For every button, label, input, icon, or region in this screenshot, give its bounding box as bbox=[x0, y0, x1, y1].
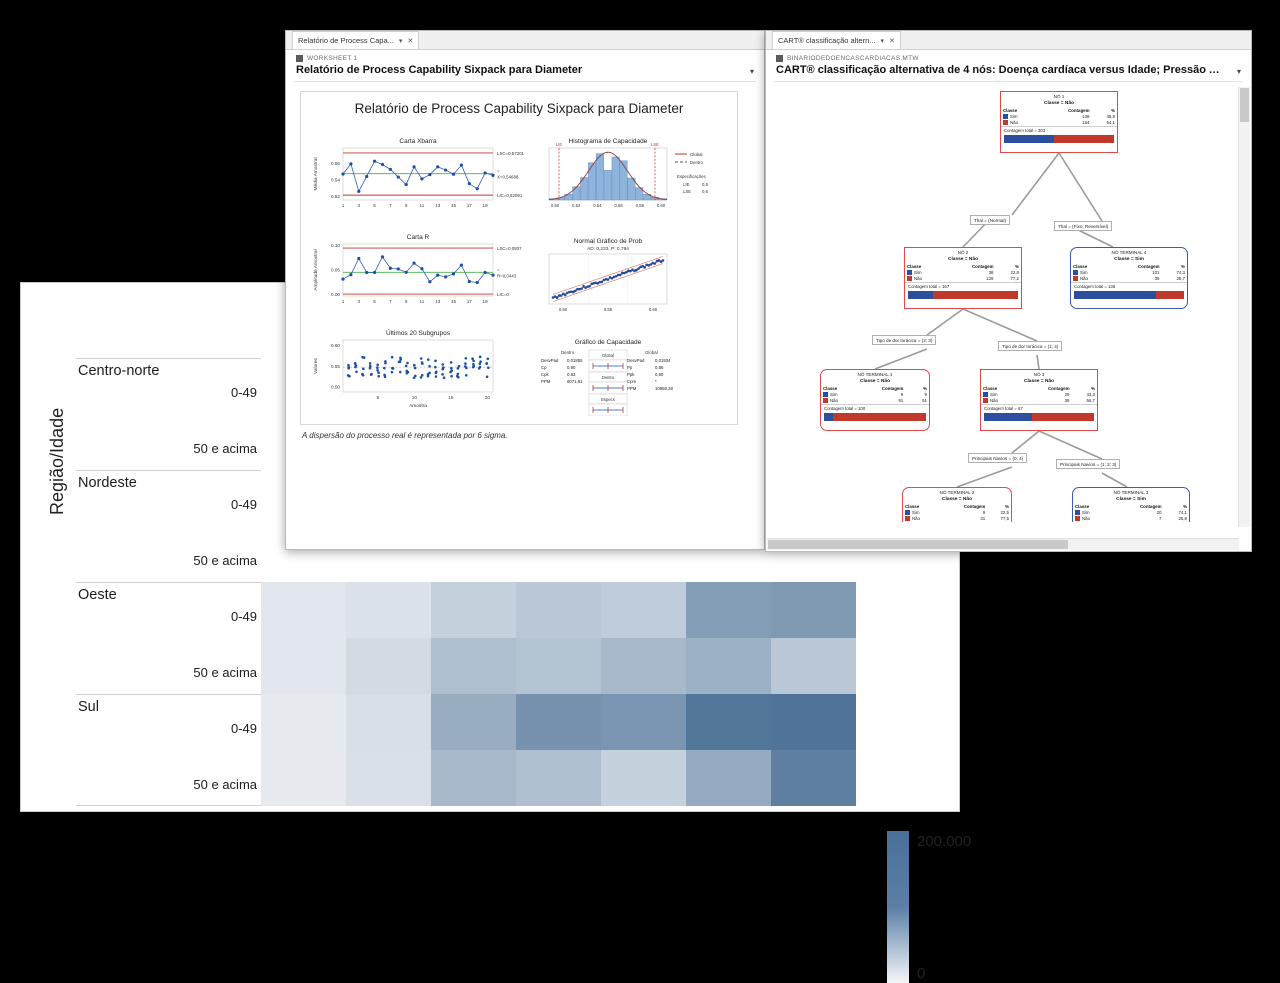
data-point bbox=[362, 368, 365, 371]
capability-menu-caret-icon[interactable]: ▾ bbox=[750, 67, 754, 76]
cart-split-label: Thal = (Fixo; Reversível) bbox=[1054, 221, 1112, 231]
heatmap-cell[interactable] bbox=[771, 582, 856, 638]
spec-value: 0,5 bbox=[702, 182, 709, 187]
ucl-label: LSC=0,0937 bbox=[497, 246, 522, 251]
x-tick-label: 19 bbox=[483, 299, 489, 304]
data-point bbox=[347, 364, 350, 367]
y-tick-label: 0.52 bbox=[331, 194, 340, 199]
data-point bbox=[354, 362, 357, 365]
worksheet-icon bbox=[776, 55, 783, 62]
scrollbar-thumb[interactable] bbox=[1240, 88, 1249, 122]
data-point bbox=[465, 357, 468, 360]
x-tick-label: 11 bbox=[420, 299, 425, 304]
data-point bbox=[377, 375, 380, 378]
x-tick-label: 20 bbox=[485, 395, 491, 400]
heatmap-cell[interactable] bbox=[431, 750, 516, 806]
cart-node-name: NÓ 3 bbox=[981, 370, 1097, 378]
data-point bbox=[441, 363, 444, 366]
capability-card-title: Relatório de Process Capability Sixpack … bbox=[301, 92, 737, 116]
heatmap-cell[interactable] bbox=[261, 694, 346, 750]
data-point bbox=[619, 274, 622, 277]
cart-node[interactable]: NÓ 1Classe = NãoClasseContagem%Sim13945,… bbox=[1000, 91, 1118, 153]
data-point bbox=[397, 175, 400, 178]
legend-label: Dentro bbox=[690, 160, 704, 165]
data-point bbox=[479, 356, 482, 359]
capability-tab-bar[interactable]: Relatório de Process Capa... ▾ ✕ bbox=[286, 31, 764, 50]
header-divider bbox=[294, 81, 756, 82]
heatmap-cell[interactable] bbox=[686, 750, 771, 806]
chart-title: Gráfico de Capacidade bbox=[575, 339, 642, 346]
x-tick-label: 9 bbox=[405, 203, 408, 208]
cart-node-total: Contagem total = 67 bbox=[981, 404, 1097, 412]
data-point bbox=[476, 281, 479, 284]
x-tick-label: 1 bbox=[342, 203, 345, 208]
cart-page-title: CART® classificação alternativa de 4 nós… bbox=[766, 63, 1251, 81]
colorbar-min-label: 0 bbox=[917, 965, 925, 982]
heatmap-group-label: Sul bbox=[78, 699, 99, 715]
heatmap-cell[interactable] bbox=[431, 694, 516, 750]
heatmap-row-labels: Centro-norte0-4950 e acimaNordeste0-4950… bbox=[76, 358, 261, 806]
histogram-bar bbox=[628, 178, 635, 200]
heatmap-cell[interactable] bbox=[771, 694, 856, 750]
cart-node-table: ClasseContagem%Sim922,5Não3177,5 bbox=[903, 504, 1011, 522]
data-point bbox=[421, 374, 424, 377]
spec-name: LIE bbox=[683, 182, 690, 187]
heatmap-row-group: Sul0-4950 e acima bbox=[76, 694, 261, 806]
cart-node-table: ClasseContagem%Sim2943,3Não3856,7 bbox=[981, 386, 1097, 404]
heatmap-colorbar bbox=[887, 831, 909, 983]
cart-node[interactable]: NÓ TERMINAL 1Classe = NãoClasseContagem%… bbox=[820, 369, 930, 431]
capability-stat-value: 0,90 bbox=[567, 365, 576, 370]
data-point bbox=[406, 362, 409, 365]
center-label: R=0,0443 bbox=[497, 273, 517, 278]
cart-split-label: Principais Navios = (1; 2; 3) bbox=[1056, 459, 1120, 469]
cart-node-name: NÓ TERMINAL 2 bbox=[903, 488, 1011, 496]
class-color-swatch bbox=[905, 516, 910, 521]
data-point bbox=[420, 357, 423, 360]
x-tick-label: 0.55 bbox=[604, 307, 613, 312]
bar-segment-sim bbox=[984, 413, 1032, 421]
capability-footnote: A dispersão do processo real é represent… bbox=[302, 431, 508, 440]
data-point bbox=[376, 369, 379, 372]
cart-node-name: NÓ 2 bbox=[905, 248, 1021, 256]
histogram-bar bbox=[573, 187, 580, 200]
data-point bbox=[434, 366, 437, 369]
data-point bbox=[414, 367, 417, 370]
data-point bbox=[365, 175, 368, 178]
data-point bbox=[468, 182, 471, 185]
cart-node-total: Contagem total = 303 bbox=[1001, 126, 1117, 134]
spec-name: LSE bbox=[683, 189, 691, 194]
capability-stat-value: 0,83 bbox=[567, 372, 576, 377]
data-point bbox=[450, 375, 453, 378]
data-point bbox=[435, 372, 438, 375]
heatmap-cell[interactable] bbox=[346, 750, 431, 806]
spec-section-title: Especificações bbox=[677, 174, 706, 179]
data-point bbox=[349, 273, 352, 276]
capability-stat-name: Pp bbox=[627, 365, 633, 370]
data-point bbox=[491, 174, 494, 177]
cart-split-label: Thal = (Normal) bbox=[970, 215, 1010, 225]
x-tick-label: 3 bbox=[358, 203, 361, 208]
capability-stat-name: DesvPad bbox=[627, 358, 645, 363]
data-point bbox=[391, 371, 394, 374]
data-point bbox=[485, 362, 488, 365]
data-point bbox=[373, 271, 376, 274]
y-axis-label: Amplitude Amostral bbox=[313, 249, 319, 290]
data-point bbox=[349, 162, 352, 165]
capability-report-window[interactable]: Relatório de Process Capa... ▾ ✕ WORKSHE… bbox=[285, 30, 765, 550]
heatmap-cell[interactable] bbox=[686, 638, 771, 694]
data-point bbox=[479, 360, 482, 363]
capability-stat-value: 0,86 bbox=[655, 365, 664, 370]
x-tick-label: 5 bbox=[373, 203, 376, 208]
data-point bbox=[355, 364, 358, 367]
data-point bbox=[405, 365, 408, 368]
data-point bbox=[662, 259, 665, 262]
data-point bbox=[427, 375, 430, 378]
data-point bbox=[456, 373, 459, 376]
data-point bbox=[370, 373, 373, 376]
x-tick-label: 7 bbox=[389, 203, 392, 208]
data-point bbox=[355, 370, 358, 373]
chart-title: Últimos 20 Subgrupos bbox=[386, 328, 451, 337]
colorbar-max-label: 200.000 bbox=[917, 833, 971, 850]
center-prefix: = bbox=[497, 169, 500, 174]
scrollbar-thumb[interactable] bbox=[768, 540, 1068, 549]
heatmap-cell[interactable] bbox=[346, 638, 431, 694]
cart-node[interactable]: NÓ 2Classe = NãoClasseContagem%Sim3822,8… bbox=[904, 247, 1022, 309]
y-tick-label: 0.55 bbox=[331, 364, 340, 369]
cart-node-table: ClasseContagem%Sim13945,9Não16454,1 bbox=[1001, 108, 1117, 126]
data-point bbox=[588, 285, 591, 288]
data-point bbox=[357, 257, 360, 260]
data-point bbox=[407, 371, 410, 374]
capability-band-label: Global bbox=[602, 353, 614, 358]
data-point bbox=[373, 160, 376, 163]
worksheet-label: WORKSHEET 1 bbox=[307, 55, 358, 62]
worksheet-icon bbox=[296, 55, 303, 62]
data-point bbox=[427, 358, 430, 361]
x-tick-label: 1 bbox=[342, 299, 345, 304]
capability-stat-name: Cpm bbox=[627, 379, 636, 384]
data-point bbox=[381, 255, 384, 258]
class-color-swatch bbox=[823, 392, 828, 397]
heatmap-subrow-label: 0-49 bbox=[231, 385, 257, 400]
data-point bbox=[399, 357, 402, 360]
cart-node-table: ClasseContagem%Sim99Não9191 bbox=[821, 386, 929, 404]
data-point bbox=[414, 375, 417, 378]
x-tick-label: 0.50 bbox=[559, 307, 568, 312]
data-point bbox=[399, 371, 402, 374]
cart-menu-caret-icon[interactable]: ▾ bbox=[1237, 67, 1241, 76]
data-point bbox=[428, 365, 431, 368]
data-point bbox=[472, 360, 475, 363]
data-point bbox=[464, 362, 467, 365]
data-point bbox=[457, 376, 460, 379]
chart-title: Carta Xbarra bbox=[399, 138, 437, 145]
class-color-swatch bbox=[1073, 270, 1078, 275]
data-point bbox=[347, 367, 350, 370]
heatmap-cell[interactable] bbox=[771, 750, 856, 806]
data-point bbox=[643, 266, 646, 269]
heatmap-cell[interactable] bbox=[516, 750, 601, 806]
heatmap-cell[interactable] bbox=[261, 638, 346, 694]
capability-stat-value: * bbox=[655, 379, 657, 384]
data-point bbox=[381, 163, 384, 166]
x-tick-label: 0.60 bbox=[657, 203, 666, 208]
data-point bbox=[442, 366, 445, 369]
heatmap-group-label: Nordeste bbox=[78, 475, 137, 491]
cart-split-label: Principais Navios = (0; 4) bbox=[968, 453, 1027, 463]
lcl-label: LIC=0,52091 bbox=[497, 193, 523, 198]
data-point bbox=[491, 274, 494, 277]
data-point bbox=[428, 280, 431, 283]
x-tick-label: 7 bbox=[389, 299, 392, 304]
capability-stat-name: DesvPad bbox=[541, 358, 559, 363]
cart-node-bar bbox=[1074, 291, 1184, 299]
data-point bbox=[607, 278, 610, 281]
data-point bbox=[357, 190, 360, 193]
heatmap-row-group: Nordeste0-4950 e acima bbox=[76, 470, 261, 582]
data-point bbox=[412, 165, 415, 168]
x-tick-label: 5 bbox=[377, 395, 380, 400]
heatmap-cell[interactable] bbox=[516, 582, 601, 638]
heatmap-cell[interactable] bbox=[516, 694, 601, 750]
heatmap-cell[interactable] bbox=[346, 694, 431, 750]
heatmap-cell[interactable] bbox=[686, 694, 771, 750]
class-color-swatch bbox=[1003, 120, 1008, 125]
cart-tree-window[interactable]: CART® classificação altern... ▾ ✕ BINARI… bbox=[765, 30, 1252, 552]
heatmap-cell[interactable] bbox=[771, 638, 856, 694]
heatmap-cell[interactable] bbox=[346, 582, 431, 638]
bar-segment-sim bbox=[1074, 291, 1156, 299]
data-point bbox=[428, 173, 431, 176]
data-point bbox=[436, 274, 439, 277]
x-tick-label: 0.60 bbox=[649, 307, 658, 312]
cart-node[interactable]: NÓ TERMINAL 2Classe = NãoClasseContagem%… bbox=[902, 487, 1012, 522]
cart-split-label: Tipo de dor torácica = (1; 4) bbox=[998, 341, 1062, 351]
capability-stat-name: Ppk bbox=[627, 372, 635, 377]
data-point bbox=[654, 262, 657, 265]
x-tick-label: 15 bbox=[451, 203, 457, 208]
heatmap-cell[interactable] bbox=[601, 638, 686, 694]
y-tick-label: 0.05 bbox=[331, 268, 340, 273]
x-tick-label: 15 bbox=[448, 395, 454, 400]
cart-node-class: Classe = Sim bbox=[1073, 496, 1189, 503]
cart-node-bar bbox=[1004, 135, 1114, 143]
capability-stat-name: Cp bbox=[541, 365, 547, 370]
chart-title: Carta R bbox=[407, 234, 430, 241]
heatmap-subrow-label: 50 e acima bbox=[193, 777, 257, 792]
data-point bbox=[405, 271, 408, 274]
cart-tree-canvas[interactable]: NÓ 1Classe = NãoClasseContagem%Sim13945,… bbox=[772, 87, 1234, 522]
data-point bbox=[376, 366, 379, 369]
y-tick-label: 0.56 bbox=[331, 161, 340, 166]
heatmap-row-group: Oeste0-4950 e acima bbox=[76, 582, 261, 694]
center-prefix: = bbox=[497, 267, 500, 272]
data-point bbox=[637, 267, 640, 270]
data-point bbox=[389, 168, 392, 171]
cart-node-class: Classe = Não bbox=[981, 378, 1097, 385]
cart-tab-bar[interactable]: CART® classificação altern... ▾ ✕ bbox=[766, 31, 1251, 50]
tab-cart-classification[interactable]: CART® classificação altern... ▾ ✕ bbox=[772, 31, 901, 49]
data-point bbox=[486, 375, 489, 378]
x-tick-label: 17 bbox=[467, 299, 473, 304]
data-point bbox=[465, 374, 468, 377]
class-color-swatch bbox=[905, 510, 910, 515]
cart-node-name: NÓ TERMINAL 3 bbox=[1073, 488, 1189, 496]
x-tick-label: 0.56 bbox=[614, 203, 623, 208]
class-color-swatch bbox=[1075, 516, 1080, 521]
data-point bbox=[460, 163, 463, 166]
heatmap-cell[interactable] bbox=[261, 582, 346, 638]
y-axis-label: Valores bbox=[313, 357, 319, 374]
heatmap-cell[interactable] bbox=[431, 638, 516, 694]
chevron-down-icon[interactable]: ▾ bbox=[399, 37, 403, 45]
cart-node[interactable]: NÓ TERMINAL 3Classe = SimClasseContagem%… bbox=[1072, 487, 1190, 522]
cart-node-total: Contagem total = 136 bbox=[1071, 282, 1187, 290]
data-point bbox=[362, 374, 365, 377]
class-color-swatch bbox=[1003, 114, 1008, 119]
x-tick-label: 13 bbox=[435, 299, 441, 304]
data-point bbox=[452, 272, 455, 275]
cart-node-class: Classe = Não bbox=[821, 378, 929, 385]
x-tick-label: 5 bbox=[373, 299, 376, 304]
heatmap-cell[interactable] bbox=[261, 750, 346, 806]
data-point bbox=[369, 362, 372, 365]
data-point bbox=[369, 365, 372, 368]
cart-node-table: ClasseContagem%Sim2074,1Não725,9 bbox=[1073, 504, 1189, 522]
heatmap-subrow-label: 0-49 bbox=[231, 721, 257, 736]
heatmap-row-group: Centro-norte0-4950 e acima bbox=[76, 358, 261, 470]
header-divider bbox=[774, 81, 1243, 82]
capability-stat-value: 0,01855 bbox=[567, 358, 583, 363]
data-point bbox=[413, 364, 416, 367]
cart-node-name: NÓ TERMINAL 4 bbox=[1071, 248, 1187, 256]
x-tick-label: 0.54 bbox=[593, 203, 602, 208]
cart-split-label: Tipo de dor torácica = (2; 3) bbox=[872, 335, 936, 345]
class-color-swatch bbox=[983, 398, 988, 403]
bar-segment-sim bbox=[1004, 135, 1054, 143]
cart-node-class: Classe = Não bbox=[1001, 100, 1117, 107]
worksheet-row: WORKSHEET 1 bbox=[286, 50, 764, 63]
lcl-label: LIC=0 bbox=[497, 292, 509, 297]
x-tick-label: 10 bbox=[412, 395, 418, 400]
heatmap-cell[interactable] bbox=[431, 582, 516, 638]
x-tick-label: 13 bbox=[435, 203, 441, 208]
close-icon[interactable]: ✕ bbox=[889, 37, 895, 45]
chart-plot-area bbox=[343, 340, 493, 392]
data-point bbox=[384, 376, 387, 379]
data-point bbox=[484, 271, 487, 274]
capability-sixpack-svg: Carta Xbarra0.520.540.56135791113151719M… bbox=[301, 116, 737, 416]
ucl-label: LSC=0,57201 bbox=[497, 151, 525, 156]
heatmap-subrow-label: 50 e acima bbox=[193, 553, 257, 568]
data-point bbox=[658, 259, 661, 262]
tab-capability-report[interactable]: Relatório de Process Capa... ▾ ✕ bbox=[292, 31, 419, 49]
cart-node[interactable]: NÓ TERMINAL 4Classe = SimClasseContagem%… bbox=[1070, 247, 1188, 309]
data-point bbox=[420, 267, 423, 270]
probplot-subtitle: AD: 0,233, P: 0,794 bbox=[587, 246, 629, 252]
data-point bbox=[365, 271, 368, 274]
capability-stat-name: PPM bbox=[541, 379, 551, 384]
data-point bbox=[484, 171, 487, 174]
data-point bbox=[460, 263, 463, 266]
data-point bbox=[580, 287, 583, 290]
cart-node-class: Classe = Não bbox=[905, 256, 1021, 263]
class-color-swatch bbox=[1073, 276, 1078, 281]
data-point bbox=[582, 285, 585, 288]
bar-segment-nao bbox=[1032, 413, 1094, 421]
cart-node-name: NÓ TERMINAL 1 bbox=[821, 370, 929, 378]
data-point bbox=[399, 360, 402, 363]
data-point bbox=[389, 267, 392, 270]
heatmap-cell[interactable] bbox=[601, 750, 686, 806]
x-tick-label: 15 bbox=[451, 299, 457, 304]
bar-segment-sim bbox=[908, 291, 933, 299]
data-point bbox=[556, 296, 559, 299]
data-point bbox=[560, 294, 563, 297]
data-point bbox=[468, 280, 471, 283]
class-color-swatch bbox=[907, 270, 912, 275]
data-point bbox=[341, 172, 344, 175]
histogram-bar bbox=[612, 157, 619, 200]
cart-node-bar bbox=[984, 413, 1094, 421]
capability-left-group-label: Dentro bbox=[561, 350, 575, 355]
heatmap-cell[interactable] bbox=[601, 582, 686, 638]
bar-segment-nao bbox=[1054, 135, 1114, 143]
histogram-bar bbox=[588, 163, 595, 200]
heatmap-group-label: Oeste bbox=[78, 587, 117, 603]
histogram-bar bbox=[596, 154, 603, 200]
cart-node-bar bbox=[908, 291, 1018, 299]
x-axis-label: Amostra bbox=[409, 403, 427, 409]
heatmap-cell[interactable] bbox=[601, 694, 686, 750]
x-tick-label: 9 bbox=[405, 299, 408, 304]
data-point bbox=[420, 376, 423, 379]
capability-stat-value: 0,01934 bbox=[655, 358, 671, 363]
chart-title: Normal Gráfico de Prob bbox=[574, 238, 643, 245]
cart-node[interactable]: NÓ 3Classe = NãoClasseContagem%Sim2943,3… bbox=[980, 369, 1098, 431]
legend-label: Global bbox=[690, 152, 702, 157]
spec-limit-label: LSE bbox=[651, 142, 659, 147]
x-tick-label: 17 bbox=[467, 203, 473, 208]
data-point bbox=[397, 267, 400, 270]
heatmap-subrow-label: 0-49 bbox=[231, 609, 257, 624]
bar-segment-sim bbox=[824, 413, 833, 421]
heatmap-cell[interactable] bbox=[686, 582, 771, 638]
chevron-down-icon[interactable]: ▾ bbox=[881, 37, 885, 45]
tab-label: CART® classificação altern... bbox=[778, 36, 876, 45]
data-point bbox=[452, 173, 455, 176]
tab-label: Relatório de Process Capa... bbox=[298, 36, 394, 45]
data-point bbox=[486, 358, 489, 361]
x-tick-label: 0.50 bbox=[551, 203, 560, 208]
data-point bbox=[361, 356, 364, 359]
capability-band-label: Dentro bbox=[602, 375, 615, 380]
heatmap-group-label: Centro-norte bbox=[78, 363, 159, 379]
y-tick-label: 0.10 bbox=[331, 243, 340, 248]
histogram-bar bbox=[620, 161, 627, 200]
heatmap-cell[interactable] bbox=[516, 638, 601, 694]
cart-horizontal-scrollbar[interactable] bbox=[767, 538, 1239, 550]
cart-vertical-scrollbar[interactable] bbox=[1238, 87, 1250, 527]
close-icon[interactable]: ✕ bbox=[407, 37, 413, 45]
heatmap-subrow-label: 0-49 bbox=[231, 497, 257, 512]
data-point bbox=[420, 177, 423, 180]
data-point bbox=[412, 262, 415, 265]
